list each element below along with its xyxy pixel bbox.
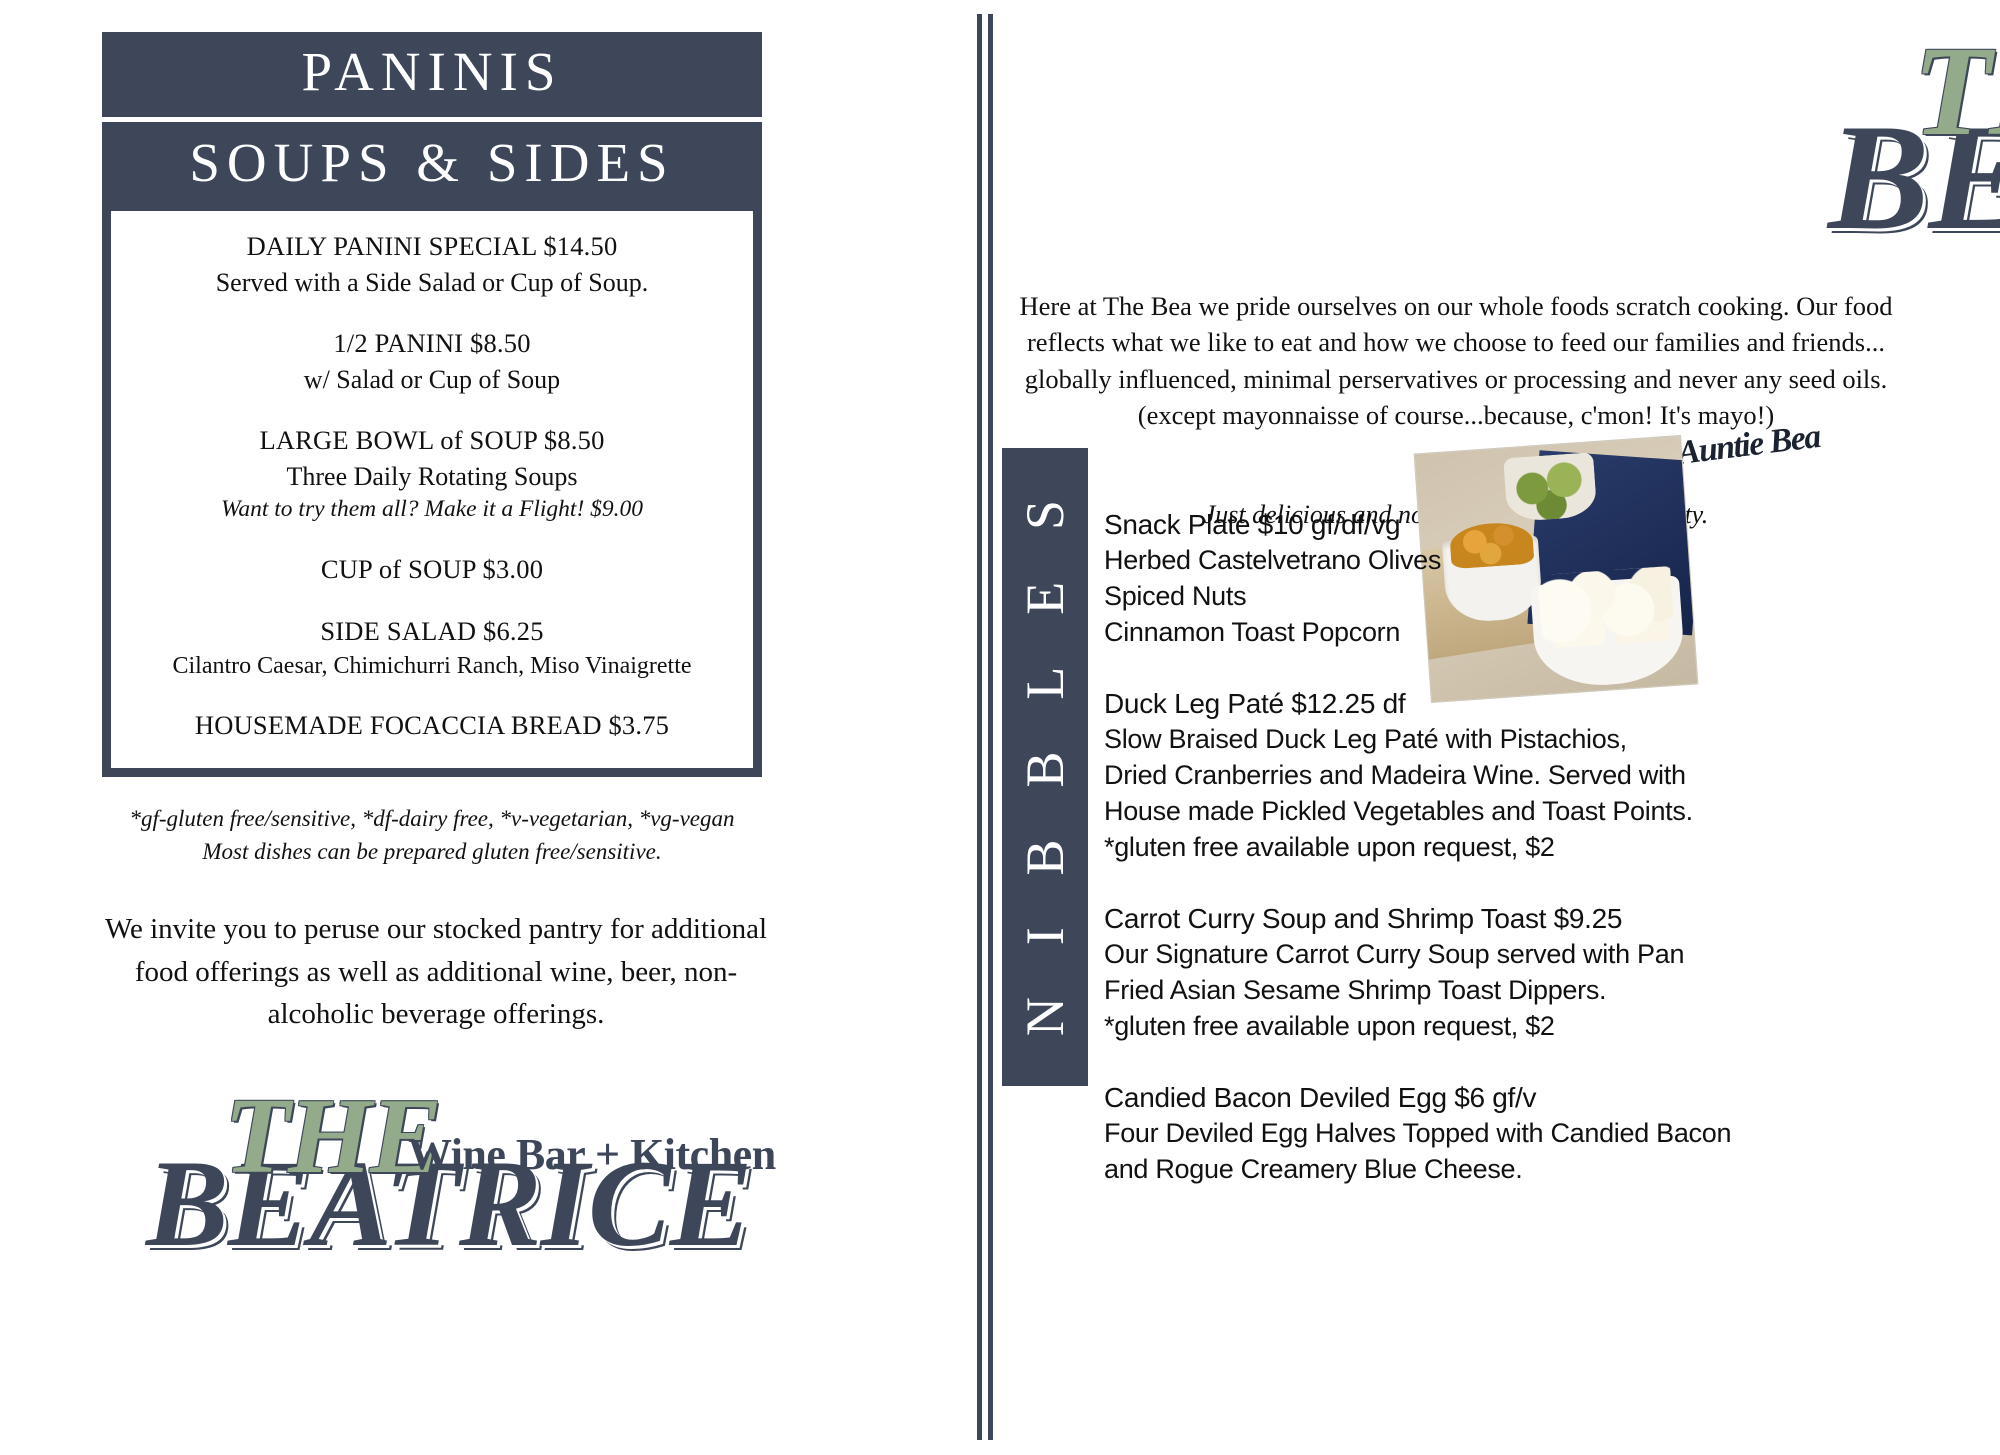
menu-item-title: LARGE BOWL of SOUP $8.50 <box>127 423 737 459</box>
nibbles-list: Snack Plate $10 gf/df/vg Herbed Castelve… <box>1104 506 1904 1188</box>
nibble-desc-line: Four Deviled Egg Halves Topped with Cand… <box>1104 1116 1904 1152</box>
menu-item-title: DAILY PANINI SPECIAL $14.50 <box>127 229 737 265</box>
nibble-desc-line: Dried Cranberries and Madeira Wine. Serv… <box>1104 758 1904 794</box>
menu-item-title: HOUSEMADE FOCACCIA BREAD $3.75 <box>127 708 737 744</box>
menu-item-daily-panini: DAILY PANINI SPECIAL $14.50 Served with … <box>127 229 737 300</box>
intro-paragraph: Here at The Bea we pride ourselves on ou… <box>1000 288 1912 433</box>
nibble-desc-line: Our Signature Carrot Curry Soup served w… <box>1104 937 1904 973</box>
menu-item-title: 1/2 PANINI $8.50 <box>127 326 737 362</box>
nibbles-letter: E <box>1014 580 1076 615</box>
menu-item-subtitle: Three Daily Rotating Soups <box>127 459 737 494</box>
nibble-item-carrot-curry-soup: Carrot Curry Soup and Shrimp Toast $9.25… <box>1104 900 1904 1045</box>
right-panel: THE Wine Bar + Kitchen BEATRICE Here at … <box>980 0 2000 1455</box>
menu-item-subtitle: Served with a Side Salad or Cup of Soup. <box>127 265 737 300</box>
logo-tagline-text: Wine Bar + Kitchen <box>408 1129 776 1180</box>
menu-item-note: Want to try them all? Make it a Flight! … <box>127 494 737 526</box>
nibble-desc-line: *gluten free available upon request, $2 <box>1104 1009 1904 1045</box>
menu-item-title: SIDE SALAD $6.25 <box>127 614 737 650</box>
logo-the-text: THE <box>1913 18 2000 165</box>
nibbles-letter: I <box>1014 925 1076 945</box>
nibble-desc-line: Spiced Nuts <box>1104 579 1904 615</box>
menu-items-box: DAILY PANINI SPECIAL $14.50 Served with … <box>102 211 762 777</box>
nibble-desc-line: Slow Braised Duck Leg Paté with Pistachi… <box>1104 722 1904 758</box>
menu-item-focaccia-bread: HOUSEMADE FOCACCIA BREAD $3.75 <box>127 708 737 744</box>
nibble-desc-line: House made Pickled Vegetables and Toast … <box>1104 794 1904 830</box>
nibble-desc-line: Herbed Castelvetrano Olives <box>1104 543 1904 579</box>
menu-item-side-salad: SIDE SALAD $6.25 Cilantro Caesar, Chimic… <box>127 614 737 682</box>
menu-item-options: Cilantro Caesar, Chimichurri Ranch, Miso… <box>127 650 737 683</box>
nibble-item-snack-plate: Snack Plate $10 gf/df/vg Herbed Castelve… <box>1104 506 1904 651</box>
nibble-desc-line: and Rogue Creamery Blue Cheese. <box>1104 1152 1904 1188</box>
nibble-desc-line: Cinnamon Toast Popcorn <box>1104 615 1904 651</box>
nibble-title: Snack Plate $10 gf/df/vg <box>1104 506 1904 543</box>
banner-paninis: PANINIS <box>102 32 762 117</box>
nibble-item-candied-bacon-deviled-egg: Candied Bacon Deviled Egg $6 gf/v Four D… <box>1104 1079 1904 1188</box>
menu-item-subtitle: w/ Salad or Cup of Soup <box>127 362 737 397</box>
section-banner: PANINIS SOUPS & SIDES <box>102 32 762 211</box>
brand-logo-top: THE Wine Bar + Kitchen BEATRICE <box>1828 26 2000 216</box>
nibble-desc-line: *gluten free available upon request, $2 <box>1104 830 1904 866</box>
nibble-title: Carrot Curry Soup and Shrimp Toast $9.25 <box>1104 900 1904 937</box>
nibbles-letter: B <box>1014 837 1076 875</box>
nibbles-letter: S <box>1014 498 1076 530</box>
brand-logo-bottom: THE Wine Bar + Kitchen BEATRICE <box>146 1087 751 1237</box>
menu-item-half-panini: 1/2 PANINI $8.50 w/ Salad or Cup of Soup <box>127 326 737 397</box>
nibbles-letter: N <box>1014 995 1076 1036</box>
nibbles-letter: B <box>1014 750 1076 788</box>
nibbles-label-letters: N I B B L E S <box>1002 448 1088 1086</box>
nibbles-section-label: N I B B L E S <box>1002 448 1088 1086</box>
nibble-desc-line: Fried Asian Sesame Shrimp Toast Dippers. <box>1104 973 1904 1009</box>
dietary-legend: *gf-gluten free/sensitive, *df-dairy fre… <box>102 803 762 868</box>
dietary-legend-line-2: Most dishes can be prepared gluten free/… <box>102 836 762 869</box>
nibble-title: Candied Bacon Deviled Egg $6 gf/v <box>1104 1079 1904 1116</box>
menu-page: PANINIS SOUPS & SIDES DAILY PANINI SPECI… <box>0 0 2000 1455</box>
dietary-legend-line-1: *gf-gluten free/sensitive, *df-dairy fre… <box>102 803 762 836</box>
menu-item-title: CUP of SOUP $3.00 <box>127 552 737 588</box>
nibble-title: Duck Leg Paté $12.25 df <box>1104 685 1904 722</box>
banner-soups-sides: SOUPS & SIDES <box>102 122 762 210</box>
left-panel: PANINIS SOUPS & SIDES DAILY PANINI SPECI… <box>0 0 980 1455</box>
nibbles-letter: L <box>1014 665 1076 700</box>
menu-item-large-bowl-soup: LARGE BOWL of SOUP $8.50 Three Daily Rot… <box>127 423 737 526</box>
nibble-item-duck-leg-pate: Duck Leg Paté $12.25 df Slow Braised Duc… <box>1104 685 1904 866</box>
pantry-invitation: We invite you to peruse our stocked pant… <box>100 908 772 1035</box>
menu-item-cup-soup: CUP of SOUP $3.00 <box>127 552 737 588</box>
